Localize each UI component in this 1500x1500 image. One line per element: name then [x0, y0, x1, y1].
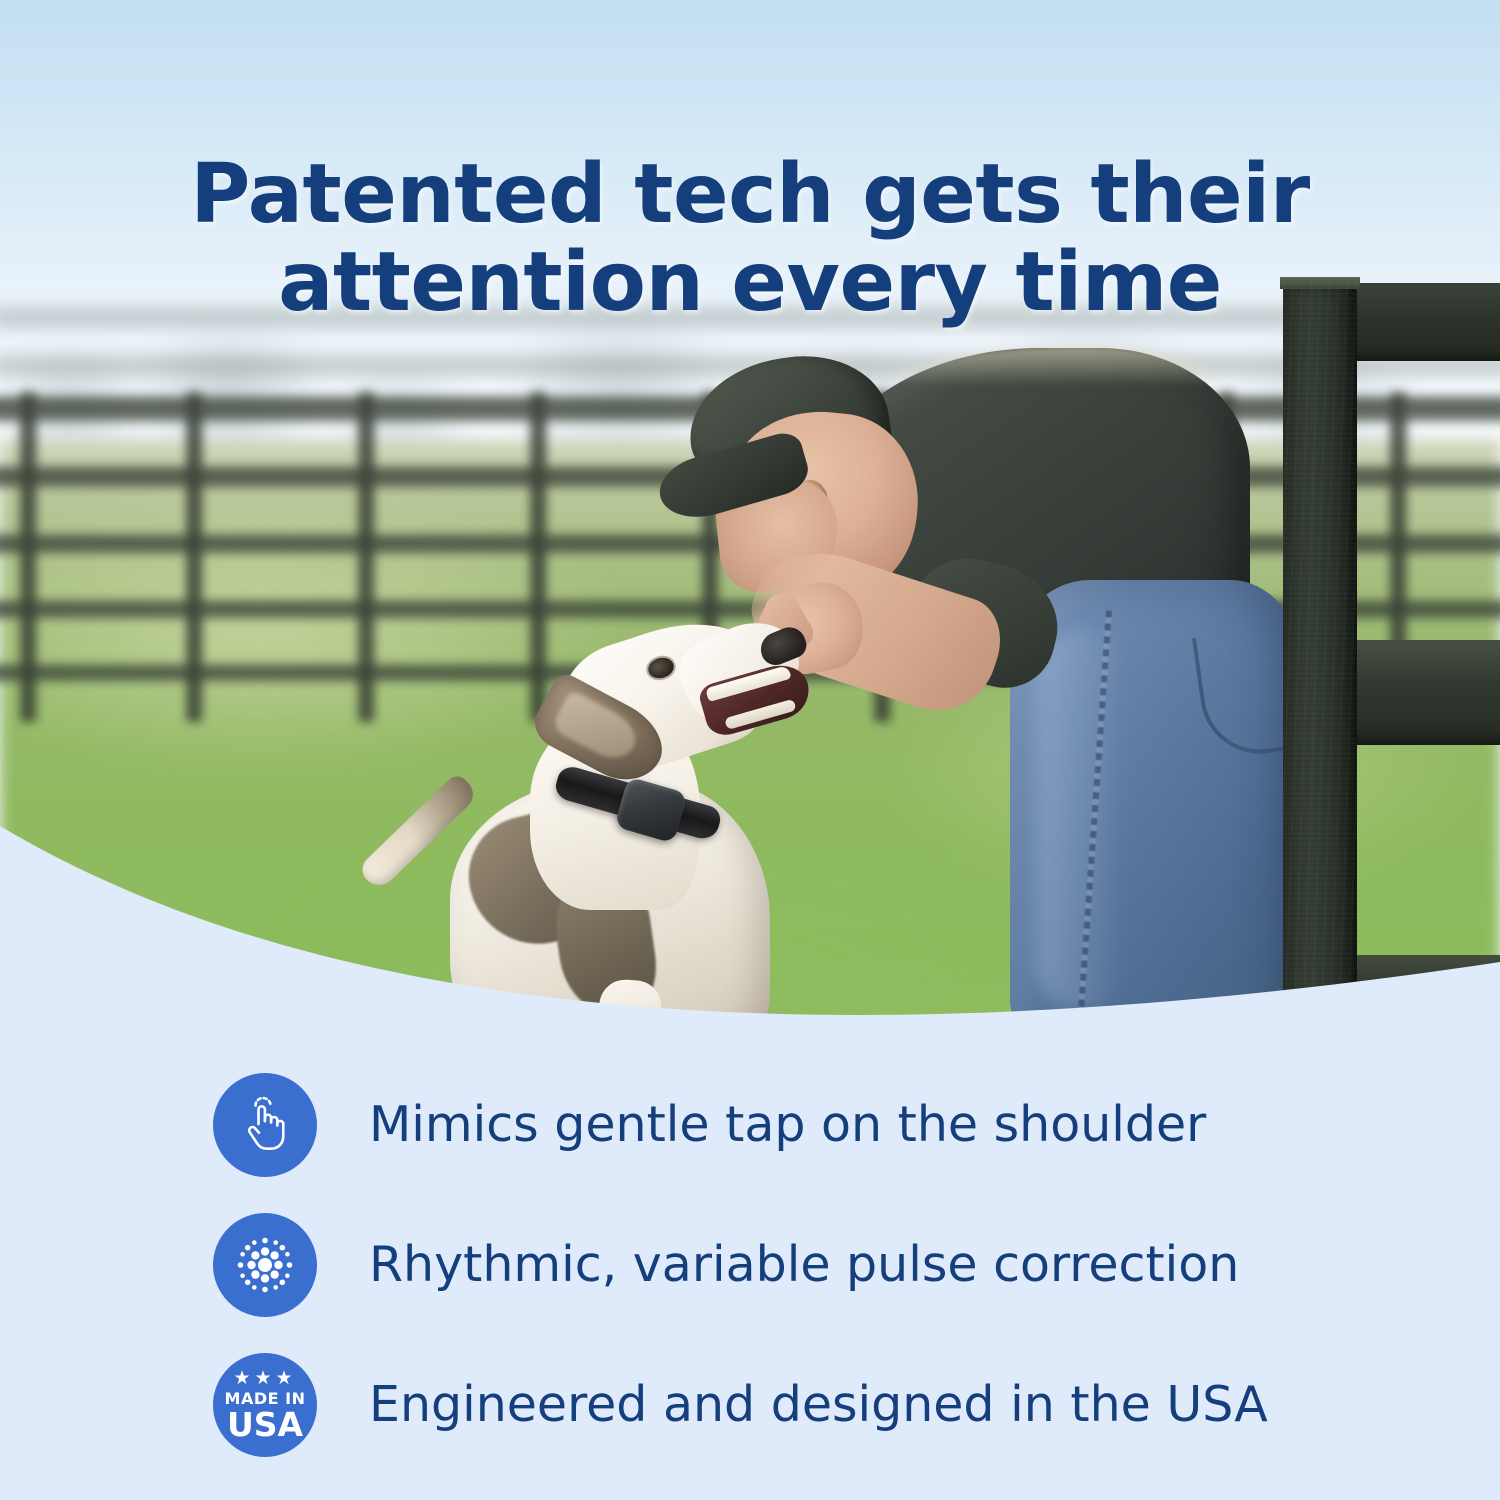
feature-label: Engineered and designed in the USA — [369, 1378, 1268, 1432]
usa-stars: ★★★ — [213, 1369, 317, 1388]
headline-line-1: Patented tech gets their — [0, 151, 1500, 240]
feature-list: Mimics gentle tap on the shoulder — [213, 1055, 1413, 1475]
usa-text: USA — [213, 1408, 317, 1441]
fence-rail — [1340, 640, 1500, 745]
tap-hand-icon — [213, 1073, 317, 1177]
pulse-burst-icon — [213, 1213, 317, 1317]
man-shoulder-highlight — [890, 346, 1220, 386]
marketing-image: Patented tech gets their attention every… — [0, 0, 1500, 1500]
made-in-usa-icon: ★★★ MADE IN USA — [213, 1353, 317, 1457]
feature-row-tap: Mimics gentle tap on the shoulder — [213, 1055, 1413, 1195]
feature-row-usa: ★★★ MADE IN USA Engineered and designed … — [213, 1335, 1413, 1475]
headline-line-2: attention every time — [0, 239, 1500, 328]
usa-badge: ★★★ MADE IN USA — [213, 1369, 317, 1441]
feature-label: Mimics gentle tap on the shoulder — [369, 1098, 1206, 1152]
feature-label: Rhythmic, variable pulse correction — [369, 1238, 1239, 1292]
page-title: Patented tech gets their attention every… — [0, 151, 1500, 328]
panel-curved-divider — [0, 790, 1500, 1050]
feature-row-pulse: Rhythmic, variable pulse correction — [213, 1195, 1413, 1335]
